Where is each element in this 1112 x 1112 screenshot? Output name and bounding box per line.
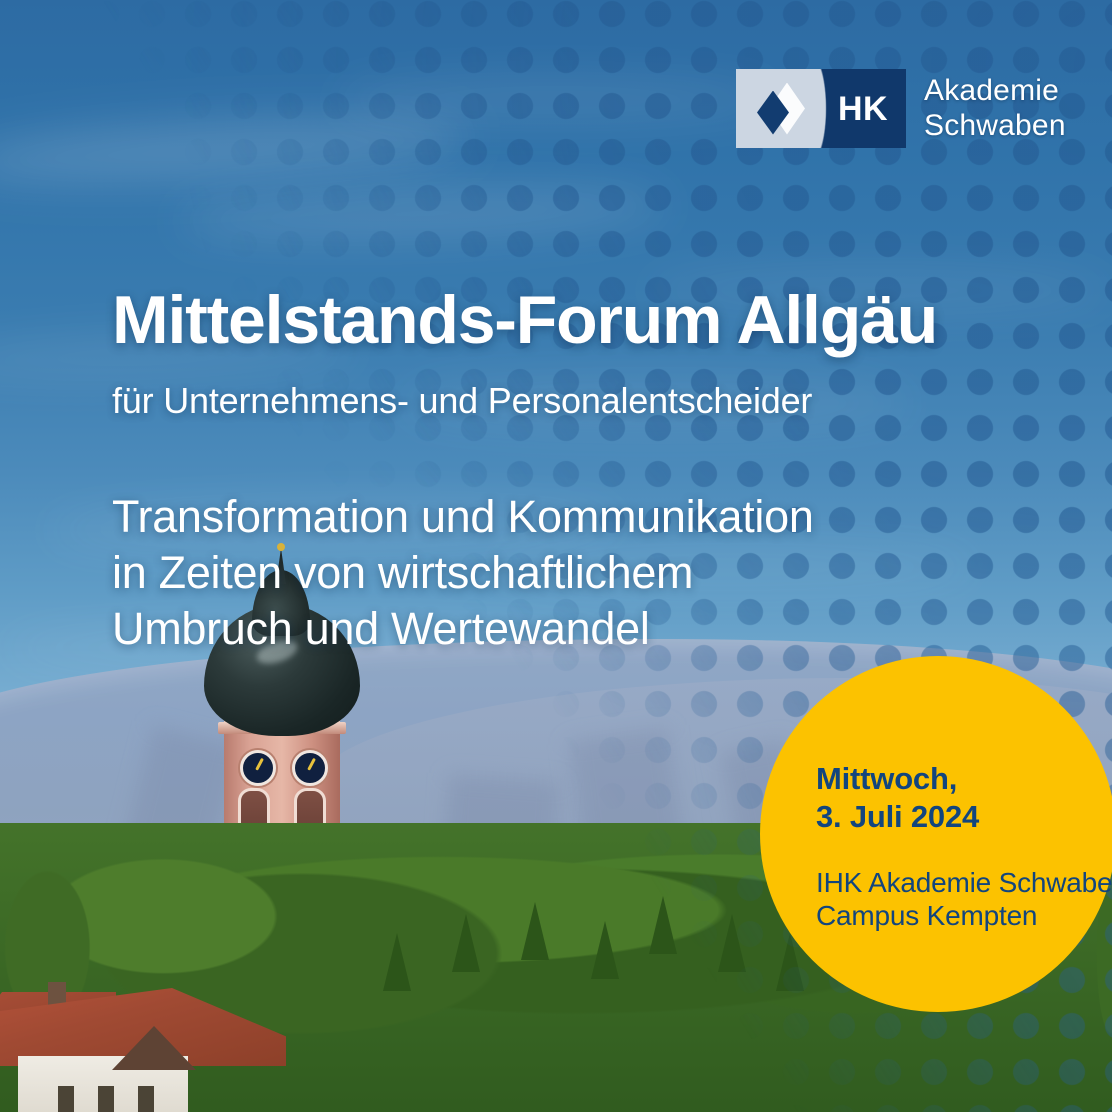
logo-mark: IHK [736,69,906,148]
date-venue-badge: Mittwoch, 3. Juli 2024 IHK Akademie Schw… [760,656,1112,1012]
badge-date-line2: 3. Juli 2024 [816,798,1112,836]
event-subheadline: für Unternehmens- und Personalentscheide… [112,381,812,421]
logo-wordmark-line1: Akademie [924,74,1066,108]
event-headline: Mittelstands-Forum Allgäu [112,286,937,355]
topic-line-3: Umbruch und Wertewandel [112,601,814,657]
badge-venue-line1: IHK Akademie Schwaben [816,866,1112,900]
logo-wordmark: Akademie Schwaben [924,74,1066,142]
badge-content: Mittwoch, 3. Juli 2024 IHK Akademie Schw… [816,760,1112,933]
badge-date-line1: Mittwoch, [816,760,1112,798]
logo-wordmark-line2: Schwaben [924,109,1066,143]
badge-venue: IHK Akademie Schwaben Campus Kempten [816,866,1112,933]
badge-date: Mittwoch, 3. Juli 2024 [816,760,1112,836]
topic-line-2: in Zeiten von wirtschaftlichem [112,545,814,601]
badge-venue-line2: Campus Kempten [816,899,1112,933]
poster-canvas: IHK Akademie Schwaben Mittelstands-Forum… [0,0,1112,1112]
topic-line-1: Transformation und Kommunikation [112,489,814,545]
ihk-akademie-logo[interactable]: IHK Akademie Schwaben [736,69,1066,148]
logo-diamond-panel [736,69,826,148]
ihk-diamond-icon [753,81,809,137]
event-topic-block: Transformation und Kommunikation in Zeit… [112,489,814,656]
